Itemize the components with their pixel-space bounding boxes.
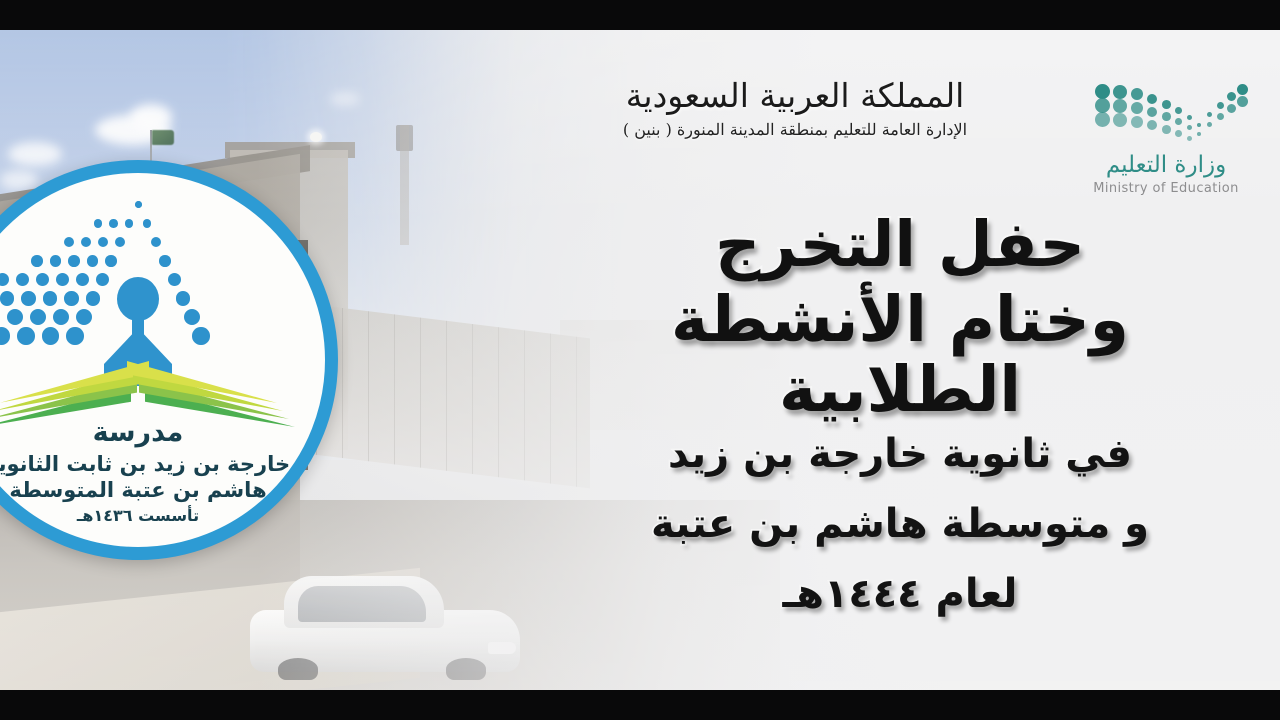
- moe-dot: [1113, 99, 1127, 113]
- emblem-dot: [0, 273, 9, 286]
- emblem-dot: [0, 291, 14, 306]
- moe-dot: [1131, 102, 1143, 114]
- emblem-dot: [30, 309, 46, 325]
- moe-dot: [1217, 102, 1224, 109]
- emblem-dot: [56, 273, 69, 286]
- moe-dot: [1147, 107, 1157, 117]
- emblem-dot: [115, 237, 125, 247]
- moe-dot: [1113, 85, 1127, 99]
- kingdom-title: المملكة العربية السعودية: [560, 78, 1030, 114]
- ministry-of-education-logo: وزارة التعليم Ministry of Education: [1076, 82, 1256, 196]
- moe-dot: [1237, 84, 1248, 95]
- moe-dot: [1175, 118, 1182, 125]
- emblem-dot: [43, 291, 58, 306]
- emblem-dot: [125, 219, 134, 228]
- emblem-dot: [135, 201, 142, 208]
- moe-dot: [1187, 125, 1192, 130]
- subtitle-line-3: لعام ١٤٤٤هـ: [550, 570, 1250, 618]
- emblem-dot: [176, 291, 191, 306]
- moe-dot: [1113, 113, 1127, 127]
- emblem-line-school: مدرسة: [0, 417, 325, 448]
- kingdom-header: المملكة العربية السعودية الإدارة العامة …: [560, 78, 1030, 139]
- moe-dot: [1147, 94, 1157, 104]
- emblem-dot: [36, 273, 49, 286]
- emblem-dot: [64, 291, 79, 306]
- subtitle-line-1: في ثانوية خارجة بن زيد: [550, 430, 1250, 478]
- emblem-dot: [87, 255, 99, 267]
- moe-dot: [1095, 84, 1110, 99]
- moe-dot: [1095, 98, 1110, 113]
- moe-dot: [1162, 125, 1171, 134]
- emblem-line-secondary: خارجة بن زيد بن ثابت الثانوية: [0, 452, 325, 476]
- moe-dot: [1162, 112, 1171, 121]
- moe-dot: [1095, 112, 1110, 127]
- moe-dot: [1237, 96, 1248, 107]
- emblem-dot: [68, 255, 80, 267]
- education-directorate-line: الإدارة العامة للتعليم بمنطقة المدينة ال…: [560, 120, 1030, 139]
- moe-dot: [1227, 104, 1236, 113]
- emblem-dot: [184, 309, 200, 325]
- emblem-dot: [96, 273, 109, 286]
- moe-dot: [1187, 136, 1192, 141]
- emblem-dot: [31, 255, 43, 267]
- letterbox-bar-bottom: [0, 690, 1280, 720]
- emblem-dot: [81, 237, 91, 247]
- emblem-dot: [98, 237, 108, 247]
- moe-dot: [1162, 100, 1171, 109]
- emblem-dot: [151, 237, 161, 247]
- moe-dot: [1207, 122, 1212, 127]
- emblem-dot: [168, 273, 181, 286]
- moe-dot: [1217, 113, 1224, 120]
- headline-line-1: حفل التخرج: [550, 210, 1250, 281]
- moe-dot: [1175, 107, 1182, 114]
- school-emblem: مدرسة خارجة بن زيد بن ثابت الثانوية هاشم…: [0, 160, 338, 560]
- letterbox-bar-top: [0, 0, 1280, 30]
- emblem-text-block: مدرسة خارجة بن زيد بن ثابت الثانوية هاشم…: [0, 417, 325, 525]
- moe-dot: [1197, 132, 1201, 136]
- emblem-dot: [16, 273, 29, 286]
- school-emblem-inner: مدرسة خارجة بن زيد بن ثابت الثانوية هاشم…: [0, 173, 325, 547]
- emblem-dot: [21, 291, 36, 306]
- moe-dot: [1227, 92, 1236, 101]
- headline-line-2: وختام الأنشطة الطلابية: [550, 285, 1250, 426]
- event-subtitle: في ثانوية خارجة بن زيد و متوسطة هاشم بن …: [550, 430, 1250, 640]
- moe-dots-icon: [1091, 82, 1241, 146]
- moe-dot: [1197, 123, 1201, 127]
- emblem-dot: [7, 309, 23, 325]
- emblem-dot: [86, 291, 101, 306]
- subtitle-line-2: و متوسطة هاشم بن عتبة: [550, 500, 1250, 548]
- moe-dot: [1175, 130, 1182, 137]
- emblem-dot: [94, 219, 103, 228]
- moe-dot: [1207, 112, 1212, 117]
- emblem-dot: [159, 255, 171, 267]
- ministry-name-arabic: وزارة التعليم: [1076, 152, 1256, 178]
- emblem-dot: [50, 255, 62, 267]
- ministry-name-english: Ministry of Education: [1076, 181, 1256, 196]
- emblem-dot-arch: [0, 195, 325, 345]
- emblem-dot: [109, 219, 118, 228]
- poster-canvas: مدرسة خارجة بن زيد بن ثابت الثانوية هاشم…: [0, 30, 1280, 690]
- poster-stage: مدرسة خارجة بن زيد بن ثابت الثانوية هاشم…: [0, 0, 1280, 720]
- emblem-dot: [53, 309, 69, 325]
- emblem-line-founded: تأسست ١٤٣٦هـ: [0, 506, 325, 525]
- moe-dot: [1131, 116, 1143, 128]
- event-headline: حفل التخرج وختام الأنشطة الطلابية: [550, 210, 1250, 426]
- emblem-dot: [105, 255, 117, 267]
- moe-dot: [1147, 120, 1157, 130]
- emblem-line-intermediate: هاشم بن عتبة المتوسطة: [0, 478, 325, 502]
- moe-dot: [1187, 115, 1192, 120]
- emblem-dot: [143, 219, 152, 228]
- emblem-dot: [64, 237, 74, 247]
- emblem-dot: [76, 273, 89, 286]
- emblem-open-book-icon: [0, 341, 303, 419]
- emblem-dot: [76, 309, 92, 325]
- moe-dot: [1131, 88, 1143, 100]
